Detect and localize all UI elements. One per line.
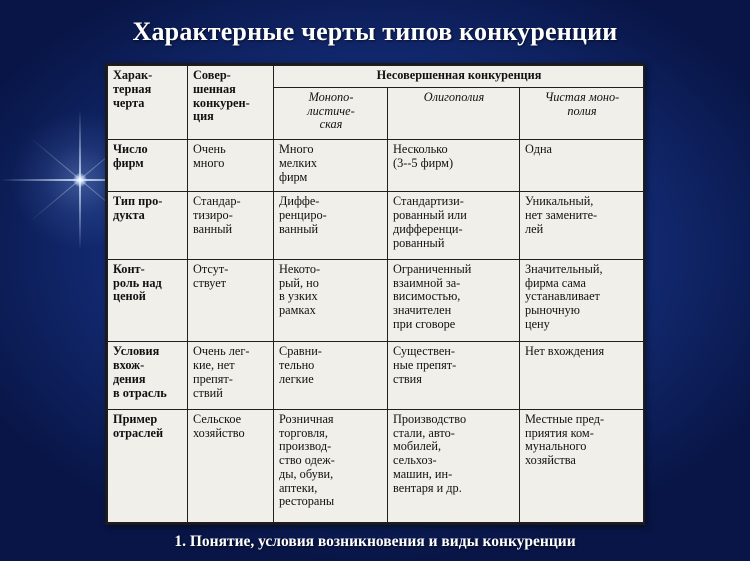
row-feature: Тип про- дукта bbox=[108, 192, 188, 259]
cell-monopolistic: Диффе- ренциро- ванный bbox=[274, 192, 388, 259]
page-title: Характерные черты типов конкуренции bbox=[0, 17, 750, 47]
table-row: Тип про- дукта Стандар- тизиро- ванный Д… bbox=[108, 192, 644, 259]
cell-monopoly: Одна bbox=[520, 140, 644, 192]
cell-monopoly: Нет вхождения bbox=[520, 342, 644, 409]
table-row: Конт- роль над ценой Отсут- ствует Некот… bbox=[108, 259, 644, 342]
cell-perfect: Стандар- тизиро- ванный bbox=[188, 192, 274, 259]
cell-oligopoly: Стандартизи- рованный или дифференци- ро… bbox=[388, 192, 520, 259]
cell-monopoly: Местные пред- приятия ком- мунального хо… bbox=[520, 409, 644, 522]
cell-oligopoly: Ограниченный взаимной за- висимостью, зн… bbox=[388, 259, 520, 342]
header-perfect-competition: Совер- шенная конкурен- ция bbox=[188, 66, 274, 140]
table-row: Условия вхож- дения в отрасль Очень лег-… bbox=[108, 342, 644, 409]
cell-monopolistic: Некото- рый, но в узких рамках bbox=[274, 259, 388, 342]
table-row: Пример отраслей Сельское хозяйство Розни… bbox=[108, 409, 644, 522]
header-imperfect-competition: Несовершенная конкуренция bbox=[274, 66, 644, 88]
row-feature: Конт- роль над ценой bbox=[108, 259, 188, 342]
cell-monopoly: Значительный, фирма сама устанавливает р… bbox=[520, 259, 644, 342]
cell-perfect: Сельское хозяйство bbox=[188, 409, 274, 522]
slide-canvas: Характерные черты типов конкуренции Хара… bbox=[0, 0, 750, 561]
cell-monopolistic: Сравни- тельно легкие bbox=[274, 342, 388, 409]
row-feature: Условия вхож- дения в отрасль bbox=[108, 342, 188, 409]
cell-monopoly: Уникальный, нет замените- лей bbox=[520, 192, 644, 259]
cell-perfect: Отсут- ствует bbox=[188, 259, 274, 342]
row-feature: Пример отраслей bbox=[108, 409, 188, 522]
cell-monopolistic: Много мелких фирм bbox=[274, 140, 388, 192]
cell-oligopoly: Производство стали, авто- мобилей, сельх… bbox=[388, 409, 520, 522]
cell-monopolistic: Розничная торговля, производ- ство одеж-… bbox=[274, 409, 388, 522]
cell-perfect: Очень много bbox=[188, 140, 274, 192]
header-feature: Харак- терная черта bbox=[108, 66, 188, 140]
table-header-row-top: Харак- терная черта Совер- шенная конкур… bbox=[108, 66, 644, 88]
cell-perfect: Очень лег- кие, нет препят- ствий bbox=[188, 342, 274, 409]
row-feature: Число фирм bbox=[108, 140, 188, 192]
slide-footer: 1. Понятие, условия возникновения и виды… bbox=[0, 533, 750, 551]
table-row: Число фирм Очень много Много мелких фирм… bbox=[108, 140, 644, 192]
competition-types-table: Харак- терная черта Совер- шенная конкур… bbox=[105, 63, 645, 525]
cell-oligopoly: Несколько (3--5 фирм) bbox=[388, 140, 520, 192]
header-oligopoly: Олигополия bbox=[388, 87, 520, 139]
cell-oligopoly: Существен- ные препят- ствия bbox=[388, 342, 520, 409]
header-pure-monopoly: Чистая моно- полия bbox=[520, 87, 644, 139]
header-monopolistic: Монопо- листиче- ская bbox=[274, 87, 388, 139]
